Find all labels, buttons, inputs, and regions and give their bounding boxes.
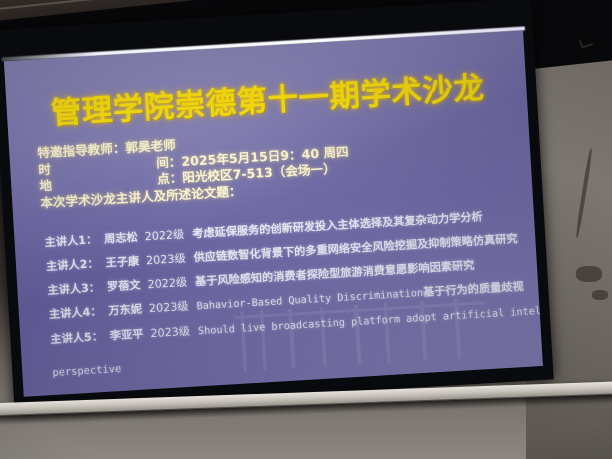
- info-value: ：郭昊老师: [112, 137, 176, 156]
- speaker-name: 罗蓓文: [107, 279, 141, 294]
- wall-crack: [576, 266, 602, 282]
- speaker-year: 2023级: [149, 300, 189, 315]
- slide-content: 管理学院崇德第十一期学术沙龙 特邀指导教师：郭昊老师 时间：2025年5月15日…: [4, 31, 543, 397]
- speaker-label: 主讲人3：: [47, 281, 100, 297]
- speaker-year: 2023级: [146, 252, 186, 267]
- speaker-label: 主讲人5：: [50, 330, 103, 346]
- wall-crack: [592, 290, 608, 300]
- speaker-name: 万东妮: [108, 303, 142, 318]
- slide-info-block: 特邀指导教师：郭昊老师 时间：2025年5月15日9：40 周四 地点：阳光校区…: [37, 117, 528, 212]
- speaker-year: 2022级: [144, 228, 184, 243]
- speaker-year: 2022级: [147, 276, 187, 291]
- speaker-name: 王子康: [105, 255, 139, 270]
- speaker-label: 主讲人4：: [49, 305, 102, 321]
- wall-crack: [575, 148, 593, 238]
- projected-slide: 管理学院崇德第十一期学术沙龙 特邀指导教师：郭昊老师 时间：2025年5月15日…: [4, 31, 543, 397]
- speaker-year: 2023级: [150, 325, 190, 340]
- projection-screen: 管理学院崇德第十一期学术沙龙 特邀指导教师：郭昊老师 时间：2025年5月15日…: [0, 0, 554, 411]
- speaker-topic-cn: 基于行为的质量歧视: [423, 280, 524, 299]
- speaker-name: 李亚平: [110, 328, 144, 343]
- speaker-label: 主讲人1：: [44, 233, 97, 249]
- speaker-name: 周志松: [104, 231, 138, 246]
- classroom-photo: 管理学院崇德第十一期学术沙龙 特邀指导教师：郭昊老师 时间：2025年5月15日…: [0, 0, 612, 459]
- speaker-label: 主讲人2：: [46, 257, 99, 273]
- speaker-list: 主讲人1：周志松2022级考虑延保服务的创新研发投入主体选择及其复杂动力学分析 …: [44, 202, 536, 353]
